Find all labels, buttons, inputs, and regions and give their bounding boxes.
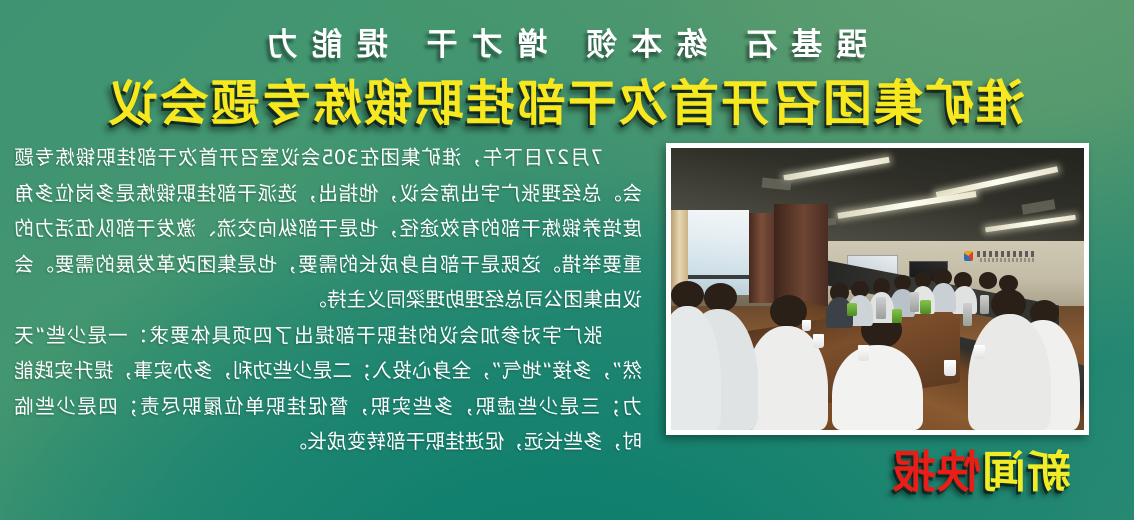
paper-cup [944, 360, 956, 377]
attendee-head [999, 275, 1018, 292]
paper-cup [858, 345, 870, 361]
wall-column [749, 213, 774, 303]
article-paragraph-1: 7月27日下午，淮矿集团在305会议室召开首次干部挂职锻炼专题会。总经理张广宇出… [14, 140, 642, 318]
news-flash-stamp: 新闻快报 [891, 436, 1071, 500]
mirrored-composition: 强基石 练本领 增才干 提能力 淮矿集团召开首次干部挂职锻炼专题会议 [0, 0, 1134, 520]
tea-cup [920, 300, 931, 314]
paper-cup [974, 345, 985, 359]
article-paragraph-2: 张广宇对参加会议的挂职干部提出了四项具体要求：一是少些“天然”，多接“地气”，全… [14, 318, 642, 460]
water-bottle [876, 297, 886, 318]
news-article-body: 7月27日下午，淮矿集团在305会议室召开首次干部挂职锻炼专题会。总经理张广宇出… [14, 140, 642, 460]
tea-cup [847, 303, 857, 316]
paper-cup [813, 334, 824, 348]
water-bottle [963, 303, 973, 326]
tea-cup [892, 309, 903, 323]
water-bottle [980, 295, 989, 315]
logo-wordmark [975, 251, 1034, 257]
stamp-text-flash: 快报 [891, 447, 981, 498]
conference-room-photo [671, 148, 1084, 430]
attendee [832, 345, 923, 430]
poster-subtitle: 强基石 练本领 增才干 提能力 [0, 19, 1134, 64]
attendee-head [671, 281, 704, 309]
news-photo-frame [666, 143, 1089, 435]
attendee-head [979, 272, 998, 289]
poster-headline: 淮矿集团召开首次干部挂职锻炼专题会议 [0, 64, 1134, 135]
paper-cup [802, 320, 811, 331]
attendee-head [704, 283, 737, 311]
company-logo-board [964, 251, 1034, 264]
logo-subtext [980, 258, 1035, 261]
water-bottle [910, 292, 919, 312]
stamp-text-news: 新闻 [981, 447, 1071, 498]
poster-canvas: 强基石 练本领 增才干 提能力 淮矿集团召开首次干部挂职锻炼专题会议 [0, 0, 1134, 520]
logo-emblem-icon [964, 251, 973, 261]
